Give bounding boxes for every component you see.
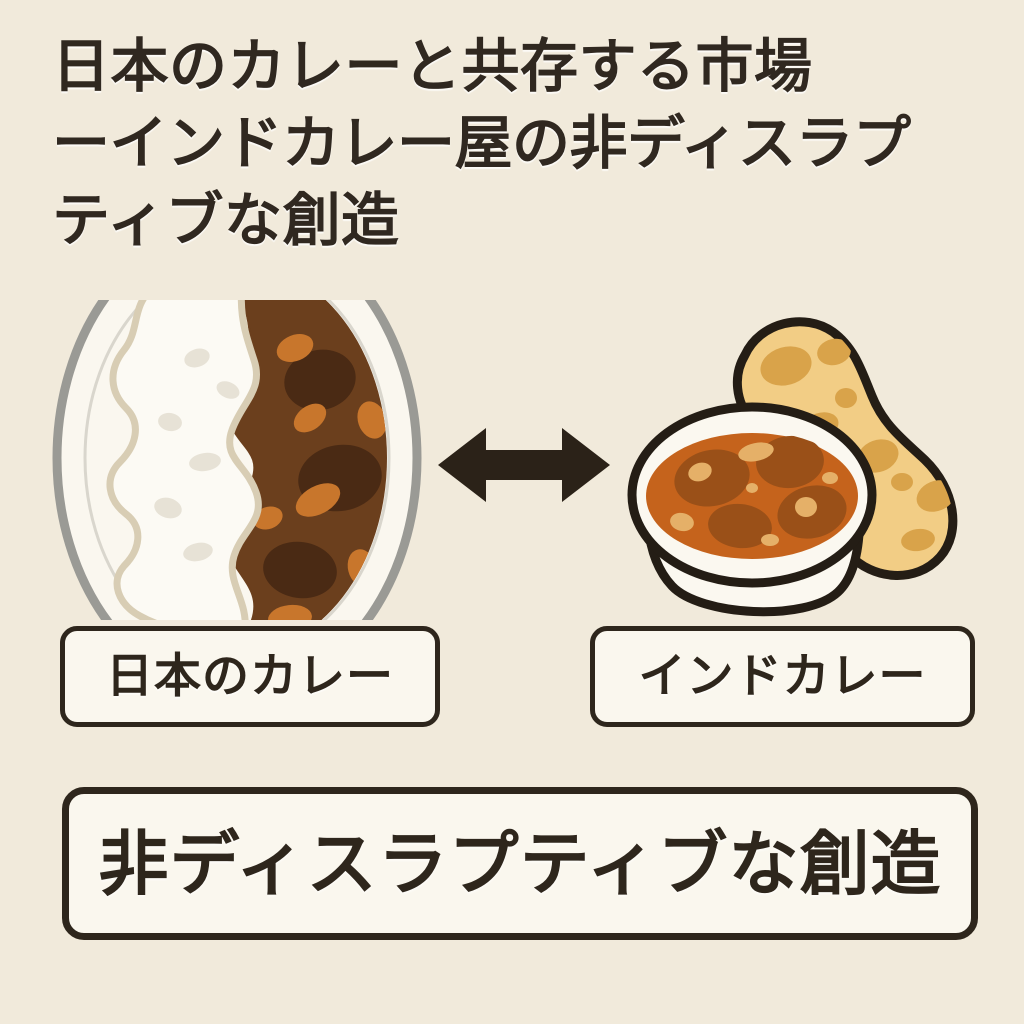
title-line-3: ティブな創造	[52, 182, 992, 259]
title-line-1: 日本のカレーと共存する市場	[52, 28, 992, 105]
curry-highlight	[795, 497, 817, 517]
infographic-canvas: 日本のカレーと共存する市場 ーインドカレー屋の非ディスラプ ティブな創造	[0, 0, 1024, 1024]
indian-curry-set	[632, 322, 960, 612]
page-title: 日本のカレーと共存する市場 ーインドカレー屋の非ディスラプ ティブな創造	[52, 28, 992, 259]
japanese-curry-plate	[57, 300, 417, 620]
illustration-row	[0, 300, 1024, 620]
label-japanese-curry-text: 日本のカレー	[106, 653, 394, 700]
label-japanese-curry[interactable]: 日本のカレー	[60, 626, 440, 727]
curry-highlight	[822, 472, 838, 484]
label-indian-curry[interactable]: インドカレー	[590, 626, 975, 727]
naan-char-spot	[891, 473, 913, 491]
conclusion-banner[interactable]: 非ディスラプティブな創造	[62, 787, 978, 940]
conclusion-banner-text: 非ディスラプティブな創造	[99, 829, 942, 899]
indian-curry-surface	[646, 433, 858, 559]
curry-highlight	[761, 534, 779, 546]
title-line-2: ーインドカレー屋の非ディスラプ	[52, 105, 992, 182]
double-arrow-icon	[438, 428, 610, 502]
label-indian-curry-text: インドカレー	[639, 653, 927, 700]
naan-char-spot	[835, 388, 857, 408]
curry-highlight	[746, 483, 758, 493]
